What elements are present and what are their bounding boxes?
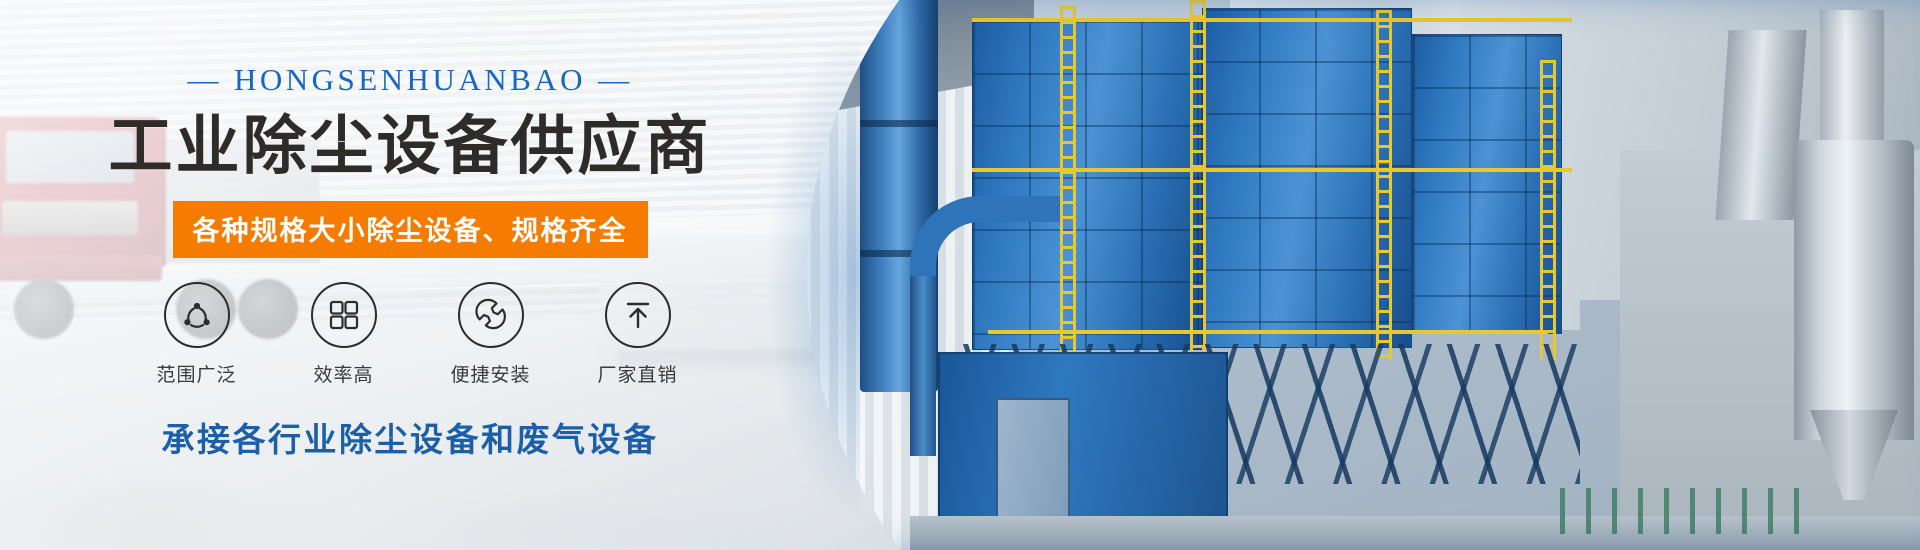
- feature-icon-circle: [458, 282, 524, 348]
- feature-list: 范围广泛 效率高: [0, 282, 820, 387]
- feature-item-install[interactable]: 便捷安装: [441, 282, 541, 387]
- stack-band: [860, 120, 938, 127]
- feature-item-efficiency[interactable]: 效率高: [294, 282, 394, 387]
- feature-label: 范围广泛: [147, 360, 247, 387]
- metal-duct-a: [1715, 30, 1806, 220]
- eyebrow-dash-right: —: [586, 62, 645, 98]
- metal-duct-b: [1820, 10, 1884, 140]
- banner-content: —HONGSENHUANBAO— 工业除尘设备供应商 各种规格大小除尘设备、规格…: [0, 0, 820, 550]
- page-title: 工业除尘设备供应商: [0, 112, 820, 181]
- baghouse-module: [972, 20, 1202, 350]
- subtitle-orange-bar: 各种规格大小除尘设备、规格齐全: [173, 201, 648, 258]
- feature-icon-circle: [605, 282, 671, 348]
- feature-label: 厂家直销: [588, 360, 688, 387]
- plant-photo: [760, 0, 1920, 550]
- green-fence: [1560, 488, 1820, 534]
- upload-arrow-icon: [622, 299, 654, 331]
- feature-icon-circle: [311, 282, 377, 348]
- yellow-ladder: [1190, 0, 1206, 375]
- yellow-ladder: [1060, 6, 1076, 366]
- feature-label: 便捷安装: [441, 360, 541, 387]
- eyebrow-dash-left: —: [175, 62, 234, 98]
- feature-item-range[interactable]: 范围广泛: [147, 282, 247, 387]
- baghouse-panel-grid: [1413, 35, 1561, 333]
- share-nodes-icon: [180, 298, 214, 332]
- grid-squares-icon: [328, 299, 360, 331]
- wrench-icon: [474, 298, 508, 332]
- baghouse-panel-grid: [973, 21, 1201, 349]
- feature-icon-circle: [164, 282, 230, 348]
- steel-silo: [1794, 140, 1914, 440]
- brand-pinyin-eyebrow: —HONGSENHUANBAO—: [0, 62, 820, 98]
- yellow-ladder: [1376, 10, 1392, 360]
- footer-tagline: 承接各行业除尘设备和废气设备: [0, 413, 820, 461]
- hero-banner: —HONGSENHUANBAO— 工业除尘设备供应商 各种规格大小除尘设备、规格…: [0, 0, 1920, 550]
- blue-downpipe: [910, 276, 936, 456]
- yellow-ladder: [1540, 60, 1556, 360]
- eyebrow-text: HONGSENHUANBAO: [234, 62, 586, 97]
- feature-item-factory-direct[interactable]: 厂家直销: [588, 282, 688, 387]
- feature-label: 效率高: [294, 360, 394, 387]
